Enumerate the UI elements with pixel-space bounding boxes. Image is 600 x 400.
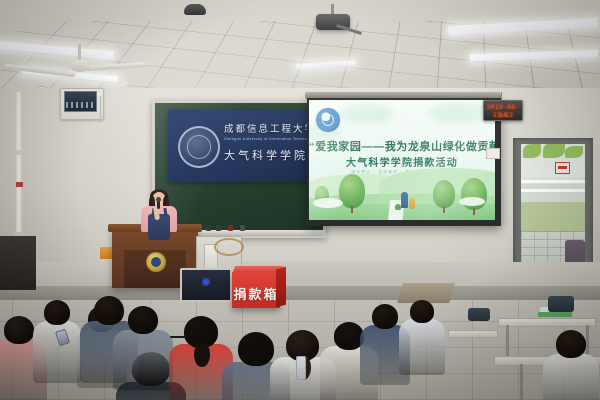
book — [538, 312, 572, 317]
eraser — [228, 225, 233, 231]
outdoor-foliage — [523, 144, 541, 158]
chair-back — [548, 296, 574, 312]
water-bottle — [296, 356, 306, 380]
pipe-clamp — [14, 150, 25, 155]
smoke-detector — [118, 80, 128, 86]
audience-head — [44, 300, 70, 325]
audience-torso — [543, 354, 599, 400]
university-seal-icon — [178, 126, 220, 168]
audience-torso — [113, 330, 173, 390]
desk-leg — [506, 325, 509, 359]
outdoor-foliage — [565, 146, 583, 158]
outdoor-railing — [521, 180, 585, 198]
screen-glare — [309, 100, 495, 220]
donation-box-label: 捐款箱 — [232, 284, 280, 303]
chalk-box — [216, 225, 221, 231]
audience-head — [372, 304, 398, 329]
audience-torso — [399, 319, 445, 375]
pipe-marking — [16, 182, 23, 187]
control-panel-cable — [100, 96, 101, 122]
lectern-emblem-icon — [146, 252, 166, 272]
led-clock-display: 2019-06-14 13:12 — [483, 100, 523, 121]
audience-head — [556, 330, 586, 358]
side-cabinet-left — [0, 236, 36, 290]
monitor-logo — [202, 278, 210, 286]
audience-head — [4, 316, 34, 344]
microphone — [157, 200, 160, 209]
eyeglasses — [170, 336, 186, 338]
audience-head — [410, 300, 434, 323]
control-panel-buttons[interactable] — [66, 102, 93, 108]
chalk-box — [240, 225, 245, 231]
wall-switch-panel[interactable] — [486, 148, 500, 159]
outdoor-lawn — [521, 202, 585, 232]
student-desk — [448, 330, 498, 338]
banner-text-block: 成都信息工程大学 Chengdu University of Informati… — [224, 124, 308, 163]
banner-org-name-en: Chengdu University of Information Techno… — [224, 137, 308, 141]
banner-org-name: 成都信息工程大学 — [224, 124, 308, 136]
security-dome-camera — [184, 4, 206, 15]
audience-head — [128, 306, 158, 334]
ceiling-fan-hub — [70, 60, 90, 72]
student-desk — [498, 318, 596, 327]
lecture-hall-photo: 成都信息工程大学 Chengdu University of Informati… — [0, 0, 600, 400]
audience-head — [94, 296, 124, 325]
projection-screen: “爱我家园——我为龙泉山绿化做贡献” 大气科学学院捐款活动 绿水青山 / 生态保… — [309, 100, 495, 220]
audience-hair-tie — [194, 342, 210, 368]
cabinet-ring — [214, 238, 244, 256]
ceiling — [0, 0, 600, 96]
audience-head — [238, 332, 274, 366]
ceiling-light-glow — [0, 0, 600, 96]
outdoor-sign — [555, 162, 570, 174]
clock-time: 13:12 — [484, 111, 522, 119]
chalk-box — [206, 225, 211, 231]
chair-back — [468, 308, 490, 321]
projection-screen-frame: “爱我家园——我为龙泉山绿化做贡献” 大气科学学院捐款活动 绿水青山 / 生态保… — [307, 98, 501, 226]
desk-leg — [520, 364, 523, 400]
event-banner: 成都信息工程大学 Chengdu University of Informati… — [168, 110, 312, 182]
banner-department: 大气科学学院 — [224, 149, 308, 163]
